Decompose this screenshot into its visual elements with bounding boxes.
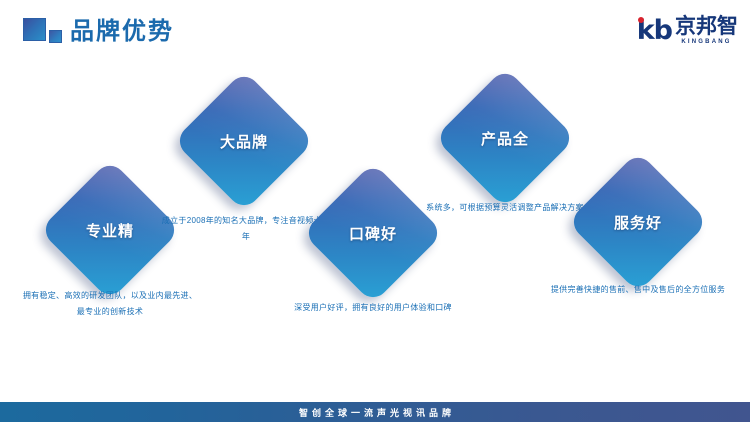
advantages-stage: 专业精 拥有稳定、高效的研发团队，以及业内最先进、最专业的创新技术 大品牌 成立… bbox=[0, 0, 750, 400]
advantage-diamond-1[interactable]: 专业精 bbox=[60, 180, 160, 280]
advantage-label-2: 大品牌 bbox=[194, 91, 294, 191]
footer-content: 智创全球一流声光视讯品牌 bbox=[0, 402, 750, 422]
advantage-desc-5: 提供完善快捷的售前、售中及售后的全方位服务 bbox=[550, 282, 726, 298]
advantage-diamond-3[interactable]: 口碑好 bbox=[323, 183, 423, 283]
advantage-diamond-5[interactable]: 服务好 bbox=[588, 172, 688, 272]
advantage-label-4: 产品全 bbox=[455, 88, 555, 188]
footer-slogan: 智创全球一流声光视讯品牌 bbox=[295, 406, 455, 419]
advantage-label-1: 专业精 bbox=[60, 180, 160, 280]
advantage-diamond-4[interactable]: 产品全 bbox=[455, 88, 555, 188]
advantage-desc-4: 系统多，可根据预算灵活调整产品解决方案 bbox=[417, 200, 593, 216]
advantage-desc-3: 深受用户好评，拥有良好的用户体验和口碑 bbox=[285, 300, 461, 316]
advantage-desc-1: 拥有稳定、高效的研发团队，以及业内最先进、最专业的创新技术 bbox=[22, 288, 198, 320]
advantage-desc-2: 成立于2008年的知名大品牌，专注音视频十六年 bbox=[158, 213, 334, 245]
advantage-diamond-2[interactable]: 大品牌 bbox=[194, 91, 294, 191]
slide-footer: 智创全球一流声光视讯品牌 bbox=[0, 400, 750, 422]
advantage-label-3: 口碑好 bbox=[323, 183, 423, 283]
advantage-label-5: 服务好 bbox=[588, 172, 688, 272]
